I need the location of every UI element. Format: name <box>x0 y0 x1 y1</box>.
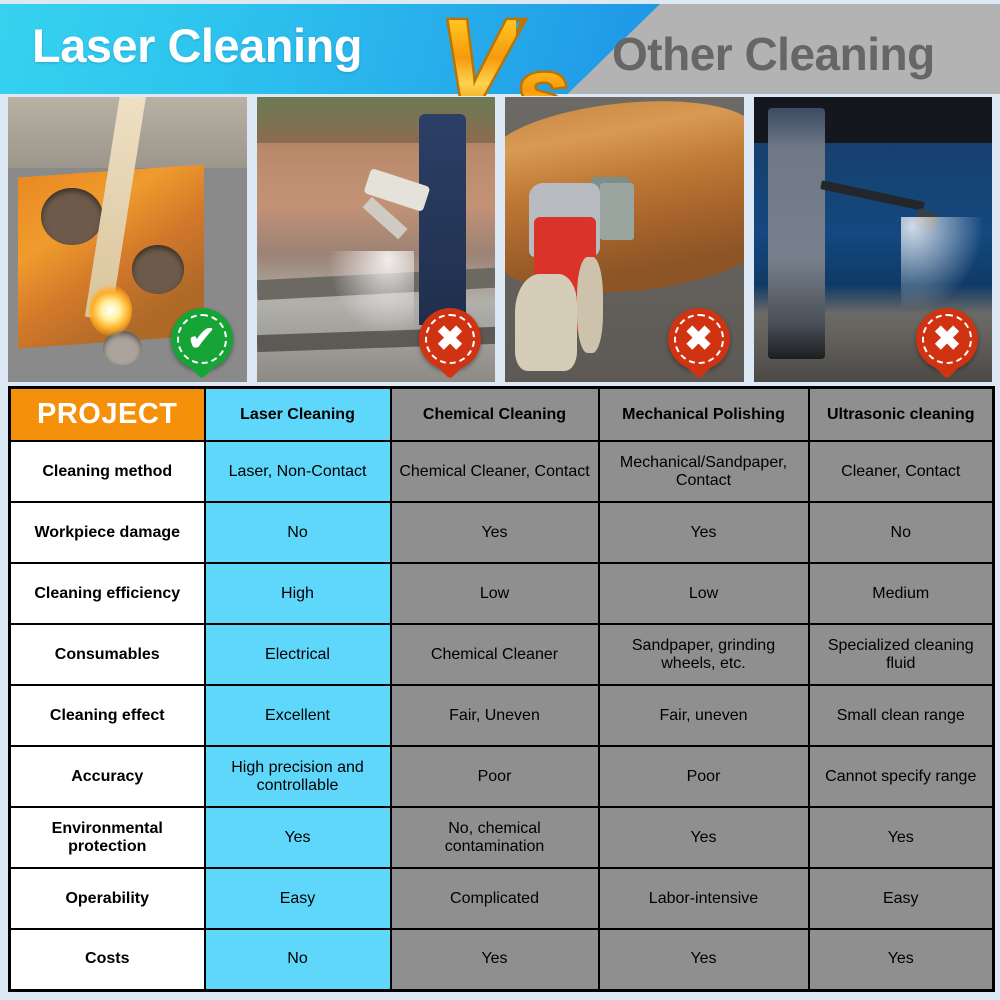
photo-pressure-wand <box>821 180 925 210</box>
photo-worker <box>768 108 825 359</box>
table-row: Workpiece damage No Yes Yes No <box>10 502 994 563</box>
chemical-cleaning-photo: ✖ <box>257 97 496 382</box>
photo-water-mist <box>901 217 982 308</box>
cell-laser: Yes <box>205 807 391 868</box>
cross-icon: ✖ <box>668 308 730 370</box>
row-label: Cleaning efficiency <box>10 563 205 624</box>
photo-strip: ✔ ✖ <box>8 97 992 382</box>
versus-logo-letters: V s V s <box>437 0 617 96</box>
laser-cleaning-photo: ✔ <box>8 97 247 382</box>
photo-wire-brush-core <box>600 183 633 240</box>
cell-ultrasonic: Cannot specify range <box>809 746 994 807</box>
cell-chemical: Complicated <box>391 868 599 929</box>
table-row: Cleaning method Laser, Non-Contact Chemi… <box>10 441 994 502</box>
photo-laser-spark <box>89 285 132 336</box>
photo-hole <box>132 245 184 293</box>
row-label: Accuracy <box>10 746 205 807</box>
comparison-table-wrapper: PROJECT Laser Cleaning Chemical Cleaning… <box>8 386 992 986</box>
table-row: Costs No Yes Yes Yes <box>10 929 994 990</box>
header-banner: Laser Cleaning Other Cleaning V s V s <box>0 0 1000 96</box>
cell-ultrasonic: No <box>809 502 994 563</box>
table-body: Cleaning method Laser, Non-Contact Chemi… <box>10 441 994 990</box>
row-label: Environmental protection <box>10 807 205 868</box>
cell-ultrasonic: Cleaner, Contact <box>809 441 994 502</box>
row-label: Operability <box>10 868 205 929</box>
row-label: Costs <box>10 929 205 990</box>
cross-badge: ✖ <box>668 308 730 370</box>
cell-chemical: Fair, Uneven <box>391 685 599 746</box>
row-label: Cleaning method <box>10 441 205 502</box>
header-laser-cleaning: Laser Cleaning <box>205 388 391 442</box>
table-row: Operability Easy Complicated Labor-inten… <box>10 868 994 929</box>
photo-spray-plume <box>328 251 414 337</box>
cell-mechanical: Sandpaper, grinding wheels, etc. <box>599 624 809 685</box>
comparison-table: PROJECT Laser Cleaning Chemical Cleaning… <box>8 386 995 992</box>
cell-chemical: Chemical Cleaner <box>391 624 599 685</box>
cell-laser: Laser, Non-Contact <box>205 441 391 502</box>
cross-icon: ✖ <box>916 308 978 370</box>
ultrasonic-cleaning-photo: ✖ <box>754 97 993 382</box>
row-label: Consumables <box>10 624 205 685</box>
cell-mechanical: Poor <box>599 746 809 807</box>
cell-laser: Electrical <box>205 624 391 685</box>
header-mechanical-polishing: Mechanical Polishing <box>599 388 809 442</box>
check-icon: ✔ <box>171 308 233 370</box>
versus-s-letter: s <box>515 44 568 96</box>
table-row: Environmental protection Yes No, chemica… <box>10 807 994 868</box>
cell-ultrasonic: Small clean range <box>809 685 994 746</box>
cell-laser: Easy <box>205 868 391 929</box>
cell-ultrasonic: Easy <box>809 868 994 929</box>
cell-laser: High precision and controllable <box>205 746 391 807</box>
cross-icon: ✖ <box>419 308 481 370</box>
cell-chemical: Poor <box>391 746 599 807</box>
cell-mechanical: Yes <box>599 502 809 563</box>
cross-badge: ✖ <box>916 308 978 370</box>
versus-logo: V s V s <box>437 0 617 96</box>
cell-ultrasonic: Yes <box>809 929 994 990</box>
photo-glove <box>515 274 577 371</box>
table-row: Consumables Electrical Chemical Cleaner … <box>10 624 994 685</box>
cell-chemical: Low <box>391 563 599 624</box>
header-chemical-cleaning: Chemical Cleaning <box>391 388 599 442</box>
versus-v-letter: V <box>439 2 516 96</box>
table-header-row: PROJECT Laser Cleaning Chemical Cleaning… <box>10 388 994 442</box>
table-row: Cleaning efficiency High Low Low Medium <box>10 563 994 624</box>
cell-chemical: Chemical Cleaner, Contact <box>391 441 599 502</box>
cell-chemical: Yes <box>391 502 599 563</box>
cell-laser: Excellent <box>205 685 391 746</box>
cell-mechanical: Low <box>599 563 809 624</box>
mechanical-polishing-photo: ✖ <box>505 97 744 382</box>
header-right-title: Other Cleaning <box>612 27 935 81</box>
cell-ultrasonic: Medium <box>809 563 994 624</box>
cell-chemical: Yes <box>391 929 599 990</box>
table-row: Accuracy High precision and controllable… <box>10 746 994 807</box>
photo-glove <box>577 257 603 354</box>
cell-mechanical: Yes <box>599 807 809 868</box>
cell-mechanical: Fair, uneven <box>599 685 809 746</box>
header-left-title: Laser Cleaning <box>32 18 362 73</box>
cell-mechanical: Yes <box>599 929 809 990</box>
cell-ultrasonic: Yes <box>809 807 994 868</box>
photo-worker <box>419 114 467 325</box>
cell-mechanical: Labor-intensive <box>599 868 809 929</box>
header-ultrasonic-cleaning: Ultrasonic cleaning <box>809 388 994 442</box>
cell-ultrasonic: Specialized cleaning fluid <box>809 624 994 685</box>
table-row: Cleaning effect Excellent Fair, Uneven F… <box>10 685 994 746</box>
cross-badge: ✖ <box>419 308 481 370</box>
cell-mechanical: Mechanical/Sandpaper, Contact <box>599 441 809 502</box>
row-label: Cleaning effect <box>10 685 205 746</box>
row-label: Workpiece damage <box>10 502 205 563</box>
header-project: PROJECT <box>10 388 205 442</box>
cell-chemical: No, chemical contamination <box>391 807 599 868</box>
cell-laser: No <box>205 929 391 990</box>
table-header: PROJECT Laser Cleaning Chemical Cleaning… <box>10 388 994 442</box>
cell-laser: High <box>205 563 391 624</box>
check-badge: ✔ <box>171 308 233 370</box>
infographic-page: Laser Cleaning Other Cleaning V s V s <box>0 0 1000 1000</box>
cell-laser: No <box>205 502 391 563</box>
